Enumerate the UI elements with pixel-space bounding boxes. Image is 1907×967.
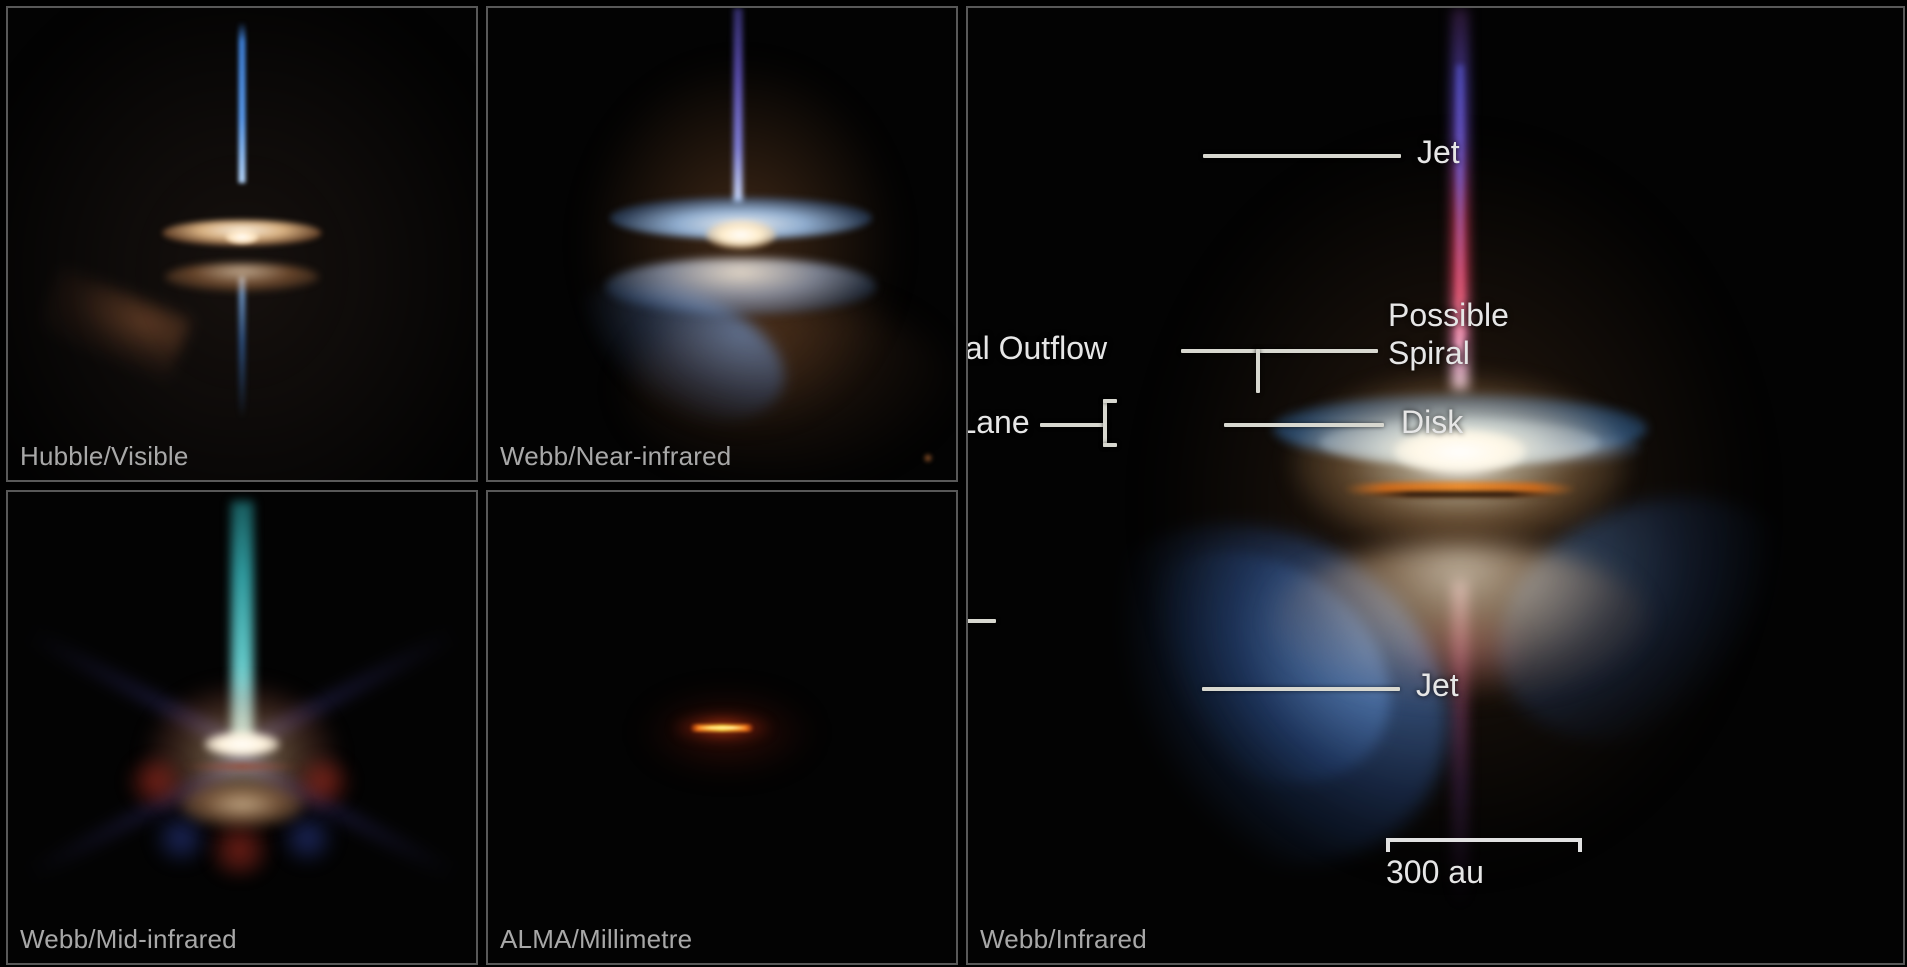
dust-continuum-peak xyxy=(696,726,747,729)
emission-knot-left xyxy=(120,756,190,808)
panel-label-alma-millimetre: ALMA/Millimetre xyxy=(500,924,692,955)
annotation-disk: Disk xyxy=(1401,404,1463,441)
jet-structure xyxy=(734,8,743,202)
annotation-possible-spiral-line1: Possible Spiral xyxy=(1388,297,1548,373)
panel-webb-mid-infrared[interactable]: Webb/Mid-infrared xyxy=(6,490,478,965)
panel-image-hubble-visible xyxy=(8,8,476,480)
leader-bracket-possible-spiral xyxy=(1256,349,1260,393)
figure-root: Hubble/Visible Webb/Near-infrared xyxy=(0,0,1907,967)
panel-webb-infrared[interactable]: Jet Conical Outflow Possible Spiral Dark… xyxy=(966,6,1905,965)
scale-bar-tick-right xyxy=(1578,838,1582,852)
jet-structure xyxy=(239,22,246,182)
lower-reflection-nebula xyxy=(165,263,319,291)
scale-bar-line xyxy=(1386,838,1582,842)
annotation-conical-outflow: Conical Outflow xyxy=(966,330,1107,367)
panel-alma-millimetre[interactable]: ALMA/Millimetre xyxy=(486,490,958,965)
panel-label-hubble-visible: Hubble/Visible xyxy=(20,441,189,472)
annotation-dark-lane: Dark Lane xyxy=(966,404,1030,441)
leader-bracket-dark-lane xyxy=(1103,399,1107,447)
lower-conical-outflow xyxy=(605,258,876,315)
panel-label-webb-mid-infrared: Webb/Mid-infrared xyxy=(20,924,237,955)
panel-image-webb-mid-infrared xyxy=(8,492,476,963)
dark-lane-structure xyxy=(181,763,303,771)
panel-image-webb-near-infrared xyxy=(488,8,956,480)
panel-image-alma-millimetre xyxy=(488,492,956,963)
lower-conical-outflow xyxy=(1273,543,1647,696)
panel-webb-near-infrared[interactable]: Webb/Near-infrared xyxy=(486,6,958,482)
reflection-wisp xyxy=(38,267,193,381)
leader-line-disk xyxy=(1224,423,1384,427)
leader-bracket-dark-lane-bottom xyxy=(1103,443,1117,447)
scale-bar-tick-left xyxy=(1386,838,1390,852)
dark-lane-structure xyxy=(1357,491,1563,498)
leader-line-possible-spiral xyxy=(1256,349,1378,353)
leader-line-jet-bottom xyxy=(1202,687,1400,691)
protostar-core xyxy=(205,732,280,756)
counter-jet-structure xyxy=(239,277,245,419)
annotation-jet-top: Jet xyxy=(1417,134,1460,171)
lower-glow xyxy=(181,784,303,826)
leader-bracket-dark-lane-top xyxy=(1103,399,1117,403)
leader-line-jet-top xyxy=(1203,154,1401,158)
background-source xyxy=(923,453,933,463)
panel-hubble-visible[interactable]: Hubble/Visible xyxy=(6,6,478,482)
annotation-jet-bottom: Jet xyxy=(1416,667,1459,704)
panel-label-webb-near-infrared: Webb/Near-infrared xyxy=(500,441,731,472)
leader-line-tail xyxy=(966,619,996,623)
panel-label-webb-infrared: Webb/Infrared xyxy=(980,924,1147,955)
leader-line-dark-lane xyxy=(1040,423,1107,427)
protostar-core xyxy=(226,230,259,244)
scale-bar-label: 300 au xyxy=(1386,854,1484,891)
